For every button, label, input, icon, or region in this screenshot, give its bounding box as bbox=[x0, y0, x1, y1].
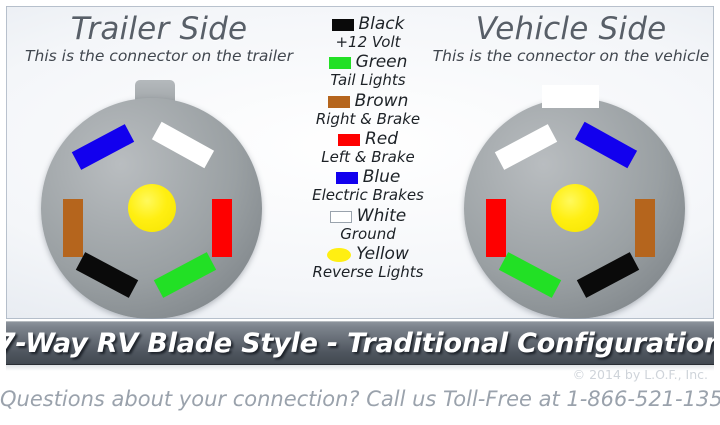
green-swatch-icon bbox=[329, 57, 351, 69]
trailer-side-subtitle: This is the connector on the trailer bbox=[9, 48, 309, 65]
yellow-swatch-icon bbox=[327, 248, 351, 262]
legend-name-brown: Brown bbox=[355, 93, 409, 111]
legend-name-black: Black bbox=[359, 16, 405, 34]
legend-desc-yellow: Reverse Lights bbox=[294, 264, 442, 281]
banner-title: 7-Way RV Blade Style - Traditional Confi… bbox=[6, 328, 714, 359]
vehicle-pin-brown bbox=[635, 199, 655, 257]
legend-desc-green: Tail Lights bbox=[294, 72, 442, 89]
trailer-connector bbox=[35, 80, 265, 319]
legend-item-yellow: Yellow Reverse Lights bbox=[294, 246, 442, 280]
footer-tagline: Questions about your connection? Call us… bbox=[0, 387, 720, 411]
legend-name-green: Green bbox=[356, 54, 408, 72]
legend-desc-brown: Right & Brake bbox=[294, 111, 442, 128]
brown-swatch-icon bbox=[328, 96, 350, 108]
vehicle-pin-red bbox=[486, 199, 506, 257]
vehicle-side-subtitle: This is the connector on the vehicle bbox=[421, 48, 714, 65]
legend-name-white: White bbox=[357, 208, 406, 226]
legend-desc-blue: Electric Brakes bbox=[294, 187, 442, 204]
trailer-pin-red bbox=[212, 199, 232, 257]
legend-name-yellow: Yellow bbox=[356, 246, 409, 264]
vehicle-connector bbox=[458, 80, 688, 319]
copyright-notice: © 2014 by L.O.F., Inc. bbox=[573, 367, 708, 382]
trailer-pin-yellow bbox=[128, 184, 176, 232]
legend-item-black: Black +12 Volt bbox=[294, 16, 442, 50]
vehicle-side-title: Vehicle Side bbox=[421, 14, 714, 45]
legend-item-white: White Ground bbox=[294, 208, 442, 242]
red-swatch-icon bbox=[338, 134, 360, 146]
wire-color-legend: Black +12 Volt Green Tail Lights Brown R… bbox=[294, 16, 442, 316]
legend-name-red: Red bbox=[365, 131, 398, 149]
legend-item-brown: Brown Right & Brake bbox=[294, 93, 442, 127]
legend-desc-red: Left & Brake bbox=[294, 149, 442, 166]
white-swatch-icon bbox=[330, 211, 352, 223]
trailer-side-heading: Trailer Side This is the connector on th… bbox=[9, 14, 309, 65]
legend-name-blue: Blue bbox=[363, 169, 401, 187]
legend-item-red: Red Left & Brake bbox=[294, 131, 442, 165]
black-swatch-icon bbox=[332, 19, 354, 31]
trailer-pin-brown bbox=[63, 199, 83, 257]
legend-item-blue: Blue Electric Brakes bbox=[294, 169, 442, 203]
trailer-side-title: Trailer Side bbox=[9, 14, 309, 45]
vehicle-pin-yellow bbox=[551, 184, 599, 232]
legend-desc-white: Ground bbox=[294, 226, 442, 243]
vehicle-side-heading: Vehicle Side This is the connector on th… bbox=[421, 14, 714, 65]
legend-item-green: Green Tail Lights bbox=[294, 54, 442, 88]
vehicle-connector-keyway-notch bbox=[542, 85, 599, 108]
diagram-panel: Trailer Side This is the connector on th… bbox=[6, 6, 714, 319]
blue-swatch-icon bbox=[336, 172, 358, 184]
legend-desc-black: +12 Volt bbox=[294, 34, 442, 51]
title-banner: 7-Way RV Blade Style - Traditional Confi… bbox=[6, 321, 714, 365]
diagram-canvas: Trailer Side This is the connector on th… bbox=[0, 0, 720, 425]
